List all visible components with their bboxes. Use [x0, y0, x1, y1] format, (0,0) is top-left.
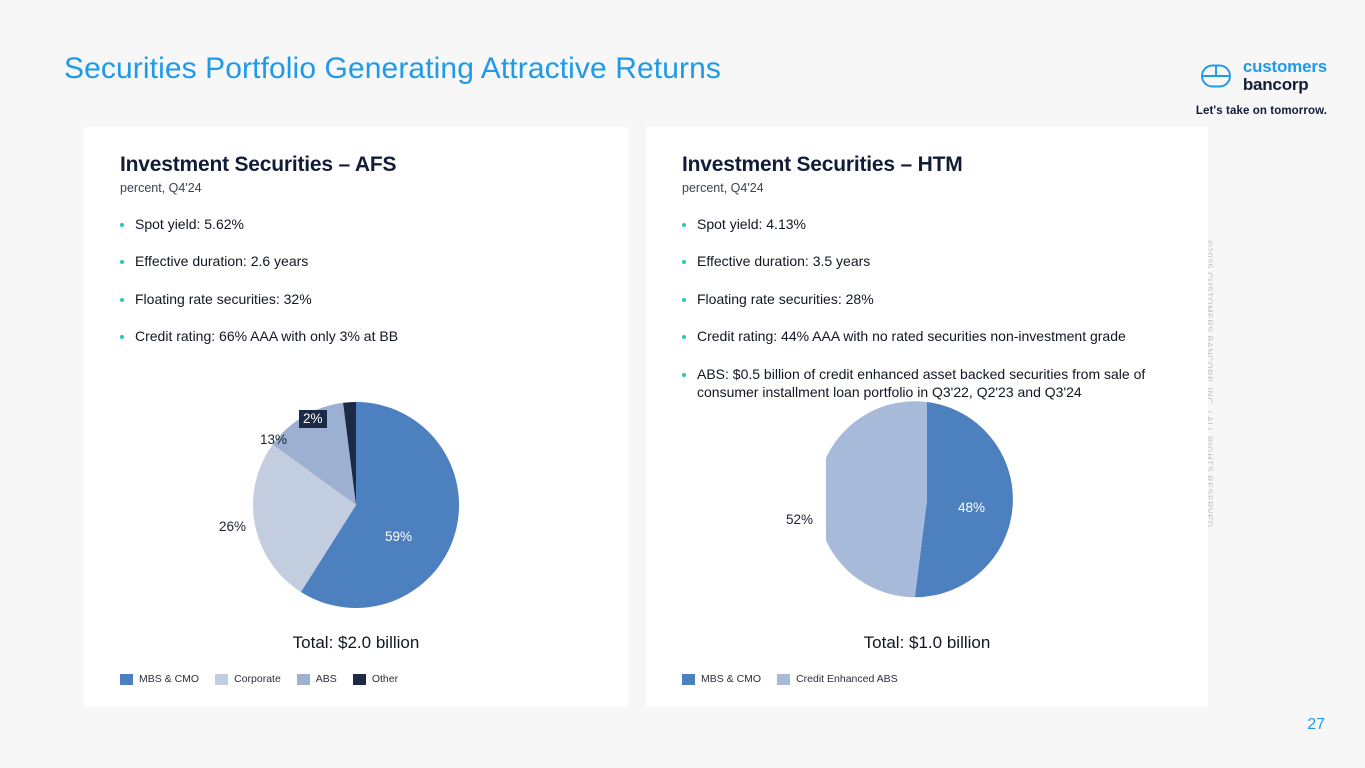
legend-item-credit-enhanced-abs: Credit Enhanced ABS: [777, 673, 898, 685]
pie-label-corporate: 26%: [219, 519, 246, 534]
list-item: Credit rating: 66% AAA with only 3% at B…: [120, 327, 594, 345]
chart-afs: 59% 26% 13% 2% Total: $2.0 billion: [84, 399, 628, 653]
chart-htm: 48% 52% Total: $1.0 billion: [646, 399, 1208, 653]
list-item: ABS: $0.5 billion of credit enhanced ass…: [682, 365, 1174, 402]
bullet-dot-icon: [682, 373, 686, 377]
legend-label: MBS & CMO: [701, 673, 761, 685]
card-afs-subtitle: percent, Q4'24: [120, 181, 594, 195]
list-item: Floating rate securities: 32%: [120, 290, 594, 308]
bullet-text: Floating rate securities: 32%: [135, 290, 312, 308]
card-afs-title: Investment Securities – AFS: [120, 153, 594, 177]
bullet-text: Credit rating: 44% AAA with no rated sec…: [697, 327, 1126, 345]
bullet-text: Effective duration: 2.6 years: [135, 252, 308, 270]
pie-slice-credit-enhanced-abs: [826, 401, 927, 597]
bullet-text: ABS: $0.5 billion of credit enhanced ass…: [697, 365, 1174, 402]
card-afs: Investment Securities – AFS percent, Q4'…: [84, 127, 628, 707]
pie-afs: [250, 399, 462, 611]
bullet-text: Spot yield: 5.62%: [135, 215, 244, 233]
pie-label-other: 2%: [299, 410, 327, 428]
card-htm-bullets: Spot yield: 4.13% Effective duration: 3.…: [682, 215, 1174, 402]
slide: Securities Portfolio Generating Attracti…: [0, 0, 1365, 768]
legend-swatch-icon: [297, 674, 310, 685]
legend-swatch-icon: [353, 674, 366, 685]
bullet-text: Effective duration: 3.5 years: [697, 252, 870, 270]
card-afs-bullets: Spot yield: 5.62% Effective duration: 2.…: [120, 215, 594, 346]
bullet-dot-icon: [682, 335, 686, 339]
bullet-dot-icon: [682, 260, 686, 264]
brand-logo: customers bancorp Let's take on tomorrow…: [1196, 58, 1327, 117]
bullet-dot-icon: [682, 298, 686, 302]
card-afs-inner: Investment Securities – AFS percent, Q4'…: [84, 127, 628, 707]
legend-swatch-icon: [777, 674, 790, 685]
legend-label: Corporate: [234, 673, 281, 685]
bullet-dot-icon: [120, 260, 124, 264]
card-htm-subtitle: percent, Q4'24: [682, 181, 1174, 195]
logo-line-2: bancorp: [1243, 76, 1327, 94]
legend-htm: MBS & CMO Credit Enhanced ABS: [682, 673, 898, 685]
pie-afs-holder: 59% 26% 13% 2%: [84, 399, 628, 619]
total-afs: Total: $2.0 billion: [84, 633, 628, 653]
legend-label: Other: [372, 673, 398, 685]
card-htm: Investment Securities – HTM percent, Q4'…: [646, 127, 1208, 707]
card-htm-inner: Investment Securities – HTM percent, Q4'…: [646, 127, 1208, 707]
pie-label-abs: 13%: [260, 432, 287, 447]
legend-swatch-icon: [682, 674, 695, 685]
page-number: 27: [1307, 716, 1325, 734]
legend-item-mbs-cmo: MBS & CMO: [120, 673, 199, 685]
pie-label-credit-enhanced-abs: 52%: [786, 512, 813, 527]
list-item: Spot yield: 5.62%: [120, 215, 594, 233]
pie-label-mbs-cmo: 59%: [385, 529, 412, 544]
list-item: Floating rate securities: 28%: [682, 290, 1174, 308]
pie-label-mbs-cmo: 48%: [958, 500, 985, 515]
bullet-text: Spot yield: 4.13%: [697, 215, 806, 233]
list-item: Effective duration: 2.6 years: [120, 252, 594, 270]
legend-label: Credit Enhanced ABS: [796, 673, 898, 685]
legend-item-mbs-cmo: MBS & CMO: [682, 673, 761, 685]
bullet-dot-icon: [120, 223, 124, 227]
legend-swatch-icon: [215, 674, 228, 685]
logo-tagline: Let's take on tomorrow.: [1196, 105, 1327, 117]
logo-wordmark: customers bancorp: [1243, 58, 1327, 94]
legend-afs: MBS & CMO Corporate ABS Other: [120, 673, 398, 685]
bullet-dot-icon: [682, 223, 686, 227]
bullet-text: Credit rating: 66% AAA with only 3% at B…: [135, 327, 398, 345]
logo-line-1: customers: [1243, 58, 1327, 76]
bullet-text: Floating rate securities: 28%: [697, 290, 874, 308]
list-item: Spot yield: 4.13%: [682, 215, 1174, 233]
legend-swatch-icon: [120, 674, 133, 685]
bullet-dot-icon: [120, 335, 124, 339]
card-htm-title: Investment Securities – HTM: [682, 153, 1174, 177]
legend-label: MBS & CMO: [139, 673, 199, 685]
list-item: Credit rating: 44% AAA with no rated sec…: [682, 327, 1174, 345]
legend-item-corporate: Corporate: [215, 673, 281, 685]
page-title: Securities Portfolio Generating Attracti…: [64, 52, 721, 86]
legend-item-abs: ABS: [297, 673, 337, 685]
legend-label: ABS: [316, 673, 337, 685]
total-htm: Total: $1.0 billion: [646, 633, 1208, 653]
bullet-dot-icon: [120, 298, 124, 302]
pie-htm: [826, 399, 1028, 601]
logo-row: customers bancorp: [1196, 58, 1327, 94]
list-item: Effective duration: 3.5 years: [682, 252, 1174, 270]
customers-bancorp-mark-icon: [1199, 59, 1233, 93]
pie-htm-holder: 48% 52%: [646, 399, 1208, 619]
legend-item-other: Other: [353, 673, 398, 685]
